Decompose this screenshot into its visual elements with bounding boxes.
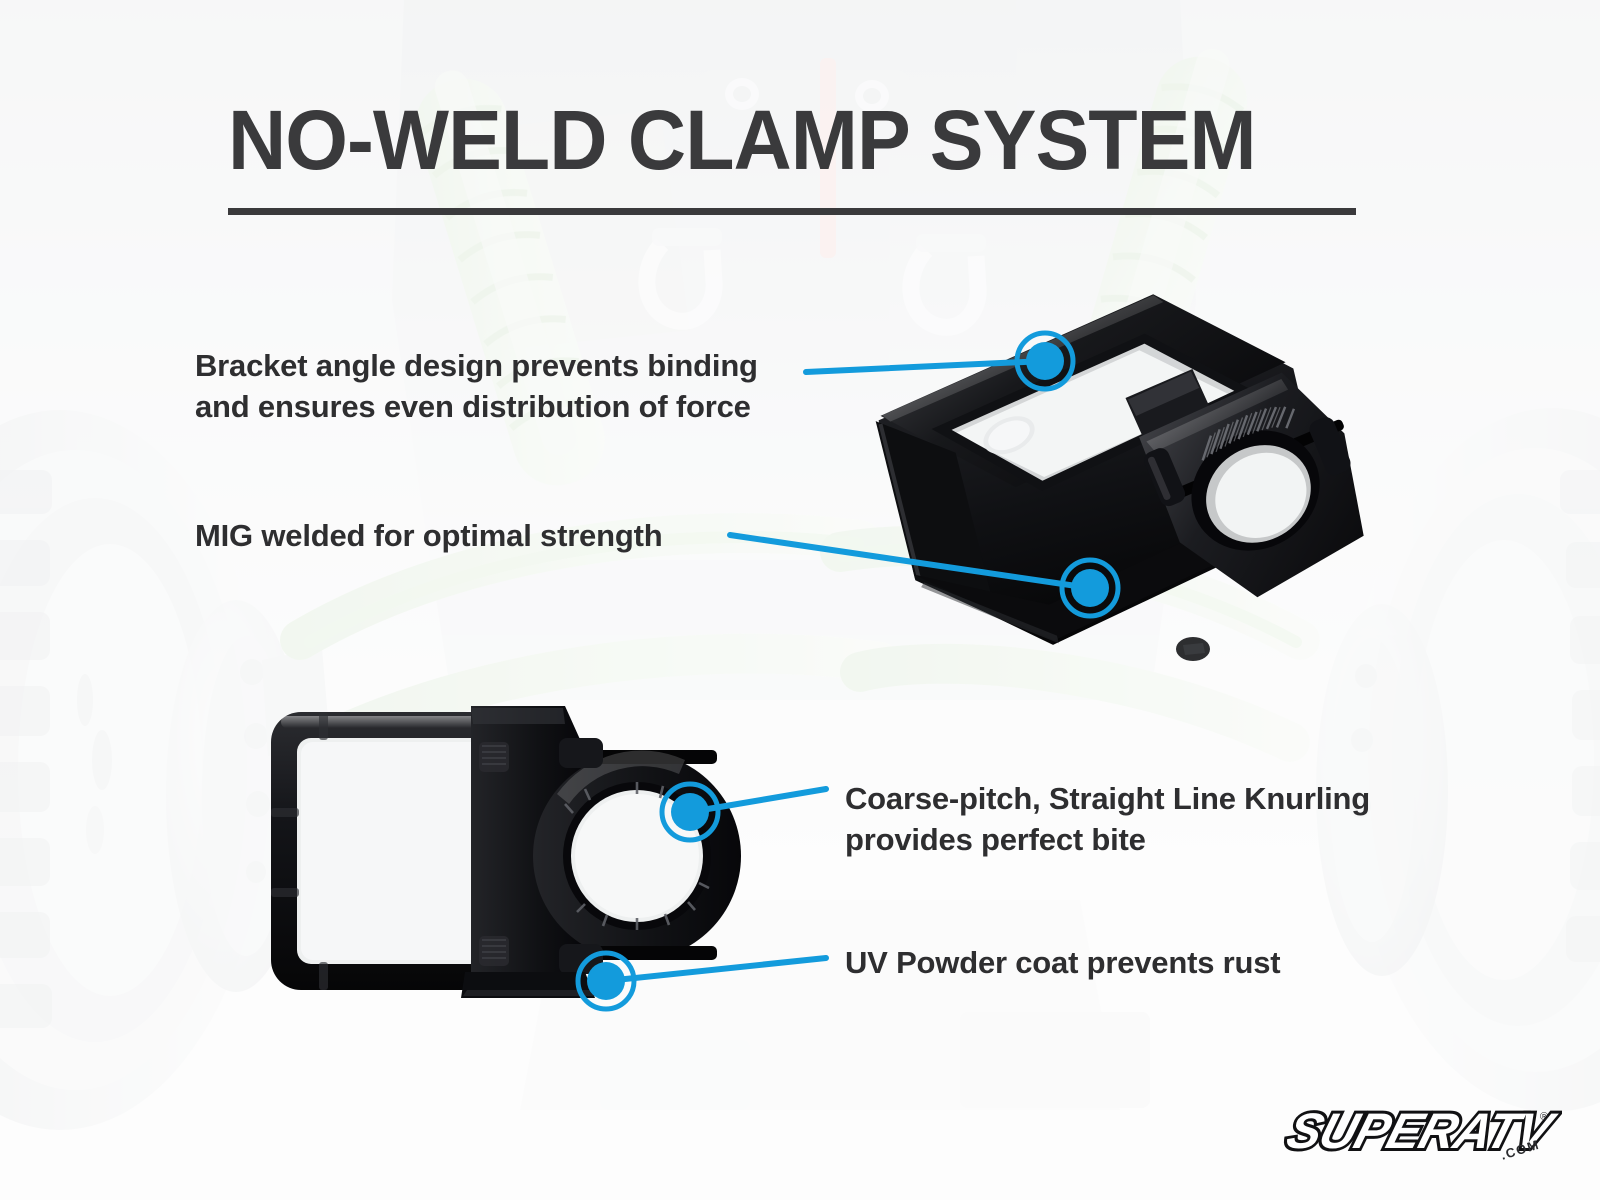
clamp-product-photo-lower xyxy=(265,690,745,1030)
page-title: NO-WELD CLAMP SYSTEM xyxy=(228,98,1313,182)
title-divider xyxy=(228,208,1356,215)
infographic-canvas: NO-WELD CLAMP SYSTEM Bracket angle desig… xyxy=(0,0,1600,1200)
title-block: NO-WELD CLAMP SYSTEM xyxy=(228,98,1358,215)
clamp-product-photo-upper xyxy=(845,265,1385,695)
callout-label-bracket-angle: Bracket angle design prevents binding an… xyxy=(195,345,815,427)
logo-registered-mark: ® xyxy=(1540,1111,1548,1123)
callout-label-knurling: Coarse-pitch, Straight Line Knurling pro… xyxy=(845,778,1445,860)
superatv-logo[interactable]: SUPERATV .COM ® xyxy=(1262,1092,1562,1172)
callout-label-mig-welded: MIG welded for optimal strength xyxy=(195,515,735,556)
callout-label-uv-powder-coat: UV Powder coat prevents rust xyxy=(845,942,1365,983)
